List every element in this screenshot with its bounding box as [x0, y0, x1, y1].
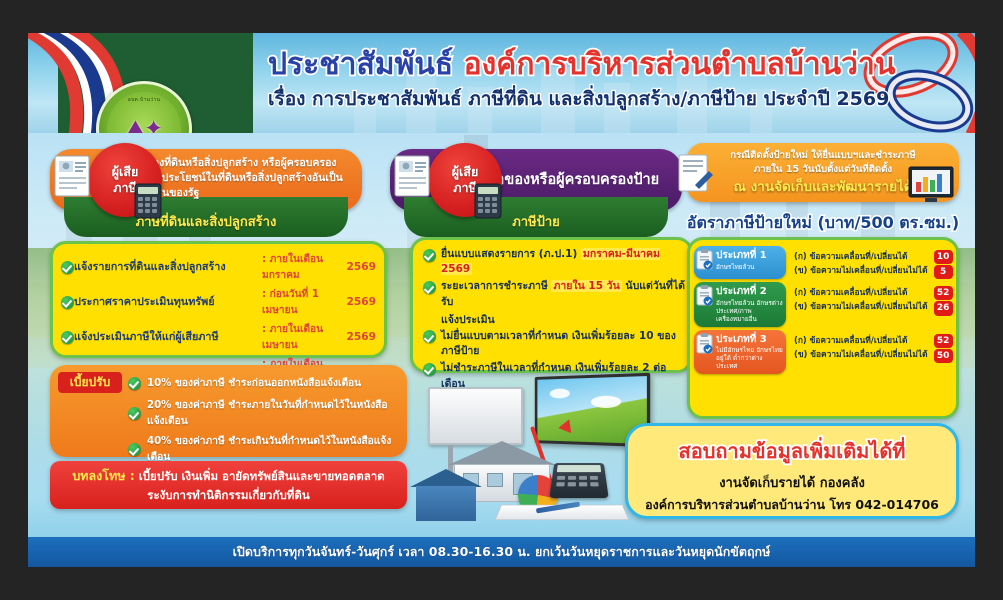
- schedule-year: 2569: [347, 296, 377, 308]
- list-item: 20% ของค่าภาษี ชำระภายในวันที่กำหนดไว้ใน…: [52, 395, 405, 431]
- logo-top-text: อบต.บ้านว่าน: [107, 96, 181, 104]
- rate-value: 52: [934, 286, 953, 300]
- office-hours-bar: เปิดบริการทุกวันจันทร์-วันศุกร์ เวลา 08.…: [28, 537, 975, 567]
- page-title: ประชาสัมพันธ์ องค์การบริหารส่วนตำบลบ้านว…: [268, 49, 845, 81]
- rate-type-desc: อักษรไทยล้วน อักษรต่างประเทศ/ภาพ เครื่อง…: [716, 299, 783, 323]
- table-row: ประเภทที่ 1 อักษรไทยล้วน (ก) ข้อความเคลื…: [694, 246, 952, 279]
- rate-item-label: (ข) ข้อความไม่เคลื่อนที่/เปลี่ยนไม่ได้: [794, 300, 928, 314]
- header-text-block: ประชาสัมพันธ์ องค์การบริหารส่วนตำบลบ้านว…: [268, 49, 845, 114]
- rate-item-label: (ข) ข้อความไม่เคลื่อนที่/เปลี่ยนไม่ได้: [794, 348, 928, 362]
- punishment-label: บทลงโทษ :: [72, 468, 134, 483]
- rate-type-cell: ประเภทที่ 2 อักษรไทยล้วน อักษรต่างประเทศ…: [694, 282, 786, 327]
- schedule-label: แจ้งประเมินภาษีให้แก่ผู้เสียภาษี: [74, 328, 262, 345]
- office-hours-text: เปิดบริการทุกวันจันทร์-วันศุกร์ เวลา 08.…: [233, 542, 771, 562]
- rate-type-title: ประเภทที่ 1: [716, 250, 783, 262]
- schedule-when: : ก่อนวันที่ 1 เมษายน: [262, 286, 347, 318]
- check-icon: [423, 330, 436, 343]
- penalty-text: 20% ของค่าภาษี ชำระภายในวันที่กำหนดไว้ใน…: [147, 397, 399, 429]
- calculator-icon: [134, 183, 162, 219]
- rate-desc-cell: (ก) ข้อความเคลื่อนที่/เปลี่ยนได้ (ข) ข้อ…: [790, 246, 930, 279]
- taxpayer-badge-line1: ผู้เสีย: [452, 164, 479, 180]
- logo-emblem-icon: ⛰✦: [126, 116, 163, 133]
- punishment-line-2: ระงับการทำนิติกรรมเกี่ยวกับที่ดิน: [56, 487, 401, 505]
- schedule-year: 2569: [347, 331, 377, 343]
- document-icon: [392, 153, 434, 199]
- rate-table-title: อัตราภาษีป้ายใหม่ (บาท/500 ตร.ซม.): [685, 211, 961, 236]
- rate-value-cell: 52 50: [934, 330, 953, 375]
- clipboard-check-icon: [696, 285, 713, 306]
- rate-type-desc: อักษรไทยล้วน: [716, 263, 783, 271]
- blank-billboard: [428, 387, 523, 445]
- sign-item-text: ระยะเวลาการชำระภาษี: [441, 280, 551, 292]
- punishment-text: บทลงโทษ : เบี้ยปรับ เงินเพิ่ม อายัดทรัพย…: [50, 461, 407, 505]
- monitor-chart-icon: [907, 165, 955, 205]
- rate-type-desc: ไม่มีอักษรไทย อักษรไทยอยู่ใต้ ต่ำกว่าต่า…: [716, 346, 783, 370]
- rate-value-cell: 10 5: [934, 246, 953, 279]
- list-item: เบี้ยปรับ 10% ของค่าภาษี ชำระก่อนออกหนัง…: [52, 370, 405, 395]
- rate-type-title: ประเภทที่ 2: [716, 286, 783, 298]
- rate-type-title: ประเภทที่ 3: [716, 334, 783, 346]
- rate-value: 26: [934, 301, 953, 315]
- sign-tax-banner: ผู้เสีย ภาษี เจ้าของหรือผู้ครอบครองป้าย …: [390, 149, 682, 237]
- rate-desc-cell: (ก) ข้อความเคลื่อนที่/เปลี่ยนได้ (ข) ข้อ…: [790, 330, 930, 375]
- contact-phone: องค์การบริหารส่วนตำบลบ้านว่าน โทร 042-01…: [628, 495, 956, 515]
- rate-item-label: (ก) ข้อความเคลื่อนที่/เปลี่ยนได้: [794, 250, 928, 264]
- sign-tax-name: ภาษีป้าย: [512, 215, 560, 230]
- punishment-box: บทลงโทษ : เบี้ยปรับ เงินเพิ่ม อายัดทรัพย…: [50, 461, 407, 509]
- rate-value-cell: 52 26: [934, 282, 953, 327]
- check-icon: [128, 443, 141, 456]
- schedule-when: : ภายในเดือน เมษายน: [262, 321, 347, 353]
- taxpayer-banner-row: ผู้เสีย ภาษี เจ้าของที่ดินหรือสิ่งปลูกสร…: [28, 133, 975, 243]
- sign-item-text: ไม่ยื่นแบบตามเวลาที่กำหนด เงินเพิ่มร้อยล…: [441, 329, 686, 359]
- rate-value: 50: [934, 349, 953, 363]
- list-item: ไม่ยื่นแบบตามเวลาที่กำหนด เงินเพิ่มร้อยล…: [417, 328, 686, 360]
- poster-canvas: อบต.บ้านว่าน ⛰✦ อำเภอท่าบ่อ จังหวัดหนองค…: [28, 33, 975, 567]
- schedule-when: : ภายในเดือน มกราคม: [262, 251, 347, 283]
- table-row: ประกาศราคาประเมินทุนทรัพย์ : ก่อนวันที่ …: [55, 284, 382, 319]
- list-item: ยื่นแบบแสดงรายการ (ภ.ป.1) มกราคม-มีนาคม …: [417, 246, 686, 278]
- land-taxpayer-description: เจ้าของที่ดินหรือสิ่งปลูกสร้าง หรือผู้คร…: [130, 156, 352, 201]
- title-part-1: ประชาสัมพันธ์: [268, 47, 453, 82]
- sign-item-text: ยื่นแบบแสดงรายการ (ภ.ป.1): [441, 248, 581, 260]
- contact-department: งานจัดเก็บรายได้ กองคลัง: [628, 472, 956, 493]
- list-item: ระยะเวลาการชำระภาษี ภายใน 15 วัน นับแต่ว…: [417, 278, 686, 310]
- rate-value: 10: [934, 250, 953, 264]
- rate-item-label: (ก) ข้อความเคลื่อนที่/เปลี่ยนได้: [794, 334, 928, 348]
- document-icon: [52, 153, 94, 199]
- contact-box: สอบถามข้อมูลเพิ่มเติมได้ที่ งานจัดเก็บรา…: [625, 423, 959, 519]
- rate-value: 52: [934, 334, 953, 348]
- logo-inner-disc: อบต.บ้านว่าน ⛰✦ อำเภอท่าบ่อ จังหวัดหนองค…: [107, 92, 181, 133]
- contact-heading: สอบถามข้อมูลเพิ่มเติมได้ที่: [628, 426, 956, 467]
- sign-item-highlight: ภายใน 15 วัน: [551, 280, 621, 292]
- table-row: แจ้งรายการที่ดินและสิ่งปลูกสร้าง : ภายใน…: [55, 249, 382, 284]
- clipboard-check-icon: [696, 333, 713, 354]
- punishment-line-1: เบี้ยปรับ เงินเพิ่ม อายัดทรัพย์สินและขาย…: [135, 469, 385, 483]
- check-icon: [128, 407, 141, 420]
- table-row: แจ้งประเมินภาษีให้แก่ผู้เสียภาษี : ภายใน…: [55, 319, 382, 354]
- penalty-fine-tag: เบี้ยปรับ: [58, 372, 122, 393]
- rate-desc-cell: (ก) ข้อความเคลื่อนที่/เปลี่ยนได้ (ข) ข้อ…: [790, 282, 930, 327]
- poster-header: อบต.บ้านว่าน ⛰✦ อำเภอท่าบ่อ จังหวัดหนองค…: [28, 33, 975, 133]
- table-row: ประเภทที่ 3 ไม่มีอักษรไทย อักษรไทยอยู่ใต…: [694, 330, 952, 375]
- sign-item-continuation: แจ้งประเมิน: [417, 311, 686, 328]
- title-part-2: องค์การบริหารส่วนตำบลบ้านว่าน: [464, 47, 896, 82]
- check-icon: [423, 281, 436, 294]
- rate-type-cell: ประเภทที่ 3 ไม่มีอักษรไทย อักษรไทยอยู่ใต…: [694, 330, 786, 375]
- taxpayer-badge-line1: ผู้เสีย: [112, 164, 139, 180]
- rate-value: 5: [934, 265, 953, 279]
- sign-tax-details-box: ยื่นแบบแสดงรายการ (ภ.ป.1) มกราคม-มีนาคม …: [410, 237, 693, 373]
- schedule-label: แจ้งรายการที่ดินและสิ่งปลูกสร้าง: [74, 258, 262, 275]
- check-icon: [61, 296, 74, 309]
- penalty-text: 10% ของค่าภาษี ชำระก่อนออกหนังสือแจ้งเตื…: [147, 375, 361, 391]
- new-sign-notice: กรณีติดตั้งป้ายใหม่ ให้ยื่นแบบฯและชำระภา…: [687, 143, 959, 202]
- check-icon: [61, 261, 74, 274]
- rate-item-label: (ข) ข้อความไม่เคลื่อนที่/เปลี่ยนไม่ได้: [794, 264, 928, 278]
- document-pen-icon: [675, 151, 715, 201]
- land-tax-banner: ผู้เสีย ภาษี เจ้าของที่ดินหรือสิ่งปลูกสร…: [50, 149, 362, 237]
- schedule-year: 2569: [347, 261, 377, 273]
- land-tax-schedule-box: แจ้งรายการที่ดินและสิ่งปลูกสร้าง : ภายใน…: [50, 241, 387, 358]
- page-subtitle: เรื่อง การประชาสัมพันธ์ ภาษีที่ดิน และสิ…: [268, 84, 845, 114]
- check-icon: [128, 377, 141, 390]
- check-icon: [423, 249, 436, 262]
- sign-tax-rate-table: ประเภทที่ 1 อักษรไทยล้วน (ก) ข้อความเคลื…: [687, 237, 959, 419]
- penalty-box: เบี้ยปรับ 10% ของค่าภาษี ชำระก่อนออกหนัง…: [50, 365, 407, 457]
- calculator-icon: [474, 183, 502, 219]
- check-icon: [61, 331, 74, 344]
- rate-type-cell: ประเภทที่ 1 อักษรไทยล้วน: [694, 246, 786, 279]
- calculator-graphic: [549, 463, 608, 498]
- notice-line-1: กรณีติดตั้งป้ายใหม่ ให้ยื่นแบบฯและชำระภา…: [695, 149, 951, 163]
- table-row: ประเภทที่ 2 อักษรไทยล้วน อักษรต่างประเทศ…: [694, 282, 952, 327]
- schedule-label: ประกาศราคาประเมินทุนทรัพย์: [74, 293, 262, 310]
- clipboard-check-icon: [696, 249, 713, 270]
- blue-house-graphic: [410, 469, 482, 521]
- rate-item-label: (ก) ข้อความเคลื่อนที่/เปลี่ยนได้: [794, 286, 928, 300]
- rate-rows: ประเภทที่ 1 อักษรไทยล้วน (ก) ข้อความเคลื…: [690, 240, 956, 380]
